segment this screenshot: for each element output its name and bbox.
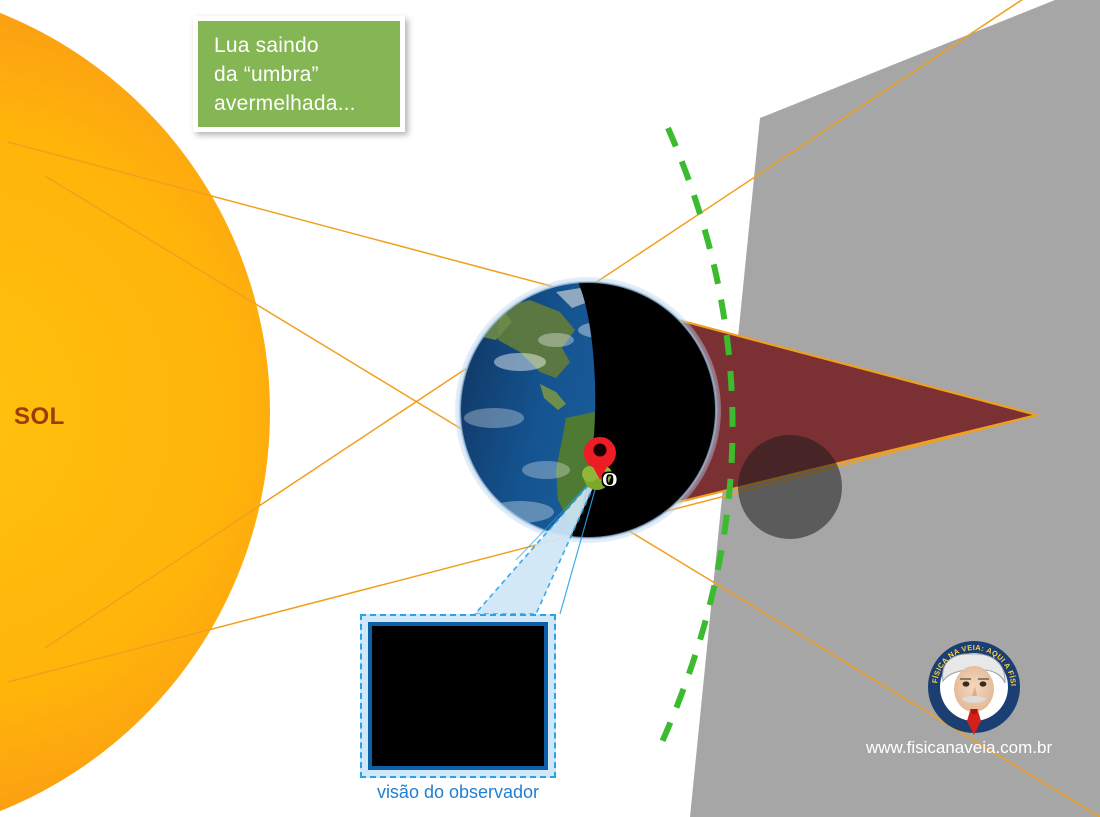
observer-view-caption: visão do observador — [360, 782, 556, 803]
note-line-2: da “umbra” — [214, 60, 400, 89]
eclipse-diagram: FÍSICA NA VEIA: AQUI A FÍSICA É DOC! Lua… — [0, 0, 1100, 817]
earth-globe — [455, 270, 740, 560]
sun-label: SOL — [14, 403, 65, 431]
site-url[interactable]: www.fisicanaveia.com.br — [866, 738, 1052, 758]
observer-view-frame — [368, 622, 548, 770]
observer-view-panel — [360, 614, 556, 778]
note-line-1: Lua saindo — [214, 31, 400, 60]
moon-in-shadow — [738, 435, 842, 539]
observer-label: O — [602, 469, 618, 492]
note-line-3: avermelhada... — [214, 89, 400, 118]
annotation-note-box: Lua saindo da “umbra” avermelhada... — [193, 16, 405, 132]
